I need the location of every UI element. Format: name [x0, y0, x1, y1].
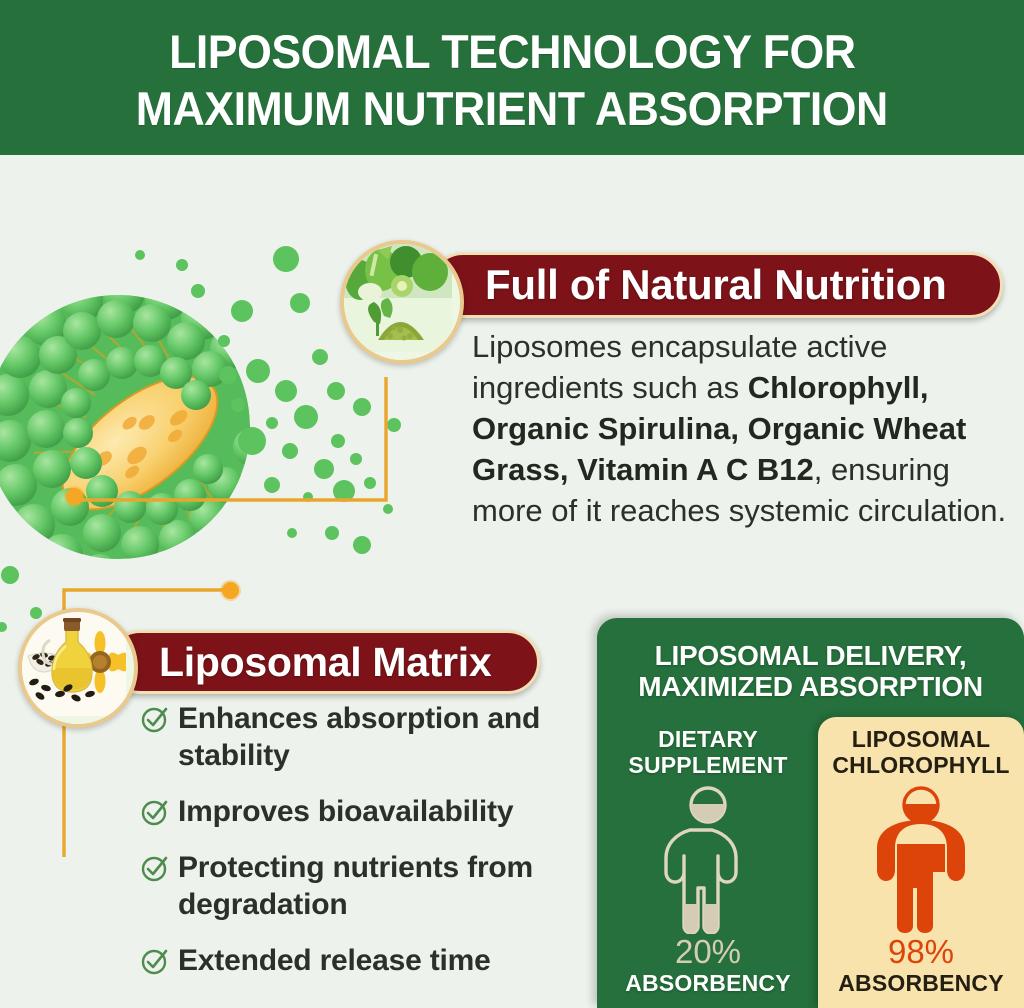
- comparison-title: LIPOSOMAL DELIVERY, MAXIMIZED ABSORPTION: [597, 640, 1024, 702]
- percent-value: 20%: [675, 934, 741, 970]
- check-circle-icon: [140, 704, 170, 734]
- figure-box: [873, 782, 969, 934]
- list-item: Protecting nutrients from degradation: [140, 849, 590, 923]
- list-item: Enhances absorption and stability: [140, 700, 590, 774]
- column-title: LIPOSOMAL CHLOROPHYLL: [832, 726, 1009, 778]
- comparison-column-liposomal-chlorophyll: LIPOSOMAL CHLOROPHYLL 98% ABSORBENCY: [818, 717, 1024, 1008]
- column-title-line1: DIETARY: [628, 726, 787, 752]
- person-outline-icon: [660, 784, 756, 934]
- check-circle-icon: [140, 853, 170, 883]
- person-solid-icon: [873, 784, 969, 934]
- check-circle-icon: [140, 946, 170, 976]
- list-item: Improves bioavailability: [140, 793, 590, 830]
- absorbency-label: ABSORBENCY: [838, 970, 1004, 997]
- matrix-title-pill: Liposomal Matrix: [108, 630, 540, 694]
- connector-anchor-dot-matrix: [222, 582, 239, 599]
- comparison-title-line2: MAXIMIZED ABSORPTION: [597, 671, 1024, 702]
- header-title-line1: LIPOSOMAL TECHNOLOGY FOR: [169, 23, 856, 80]
- list-item-label: Enhances absorption and stability: [178, 700, 590, 774]
- header-title-line2: MAXIMUM NUTRIENT ABSORPTION: [136, 80, 888, 137]
- list-item-label: Protecting nutrients from degradation: [178, 849, 590, 923]
- column-title-line1: LIPOSOMAL: [832, 726, 1009, 752]
- header-banner: LIPOSOMAL TECHNOLOGY FOR MAXIMUM NUTRIEN…: [0, 0, 1024, 155]
- nutrition-body-text: Liposomes encapsulate active ingredients…: [472, 326, 1012, 531]
- comparison-title-line1: LIPOSOMAL DELIVERY,: [597, 640, 1024, 671]
- comparison-column-dietary-supplement: DIETARY SUPPLEMENT: [605, 717, 811, 1008]
- connector-line-nutrition: [68, 495, 398, 505]
- nutrition-title-text: Full of Natural Nutrition: [485, 261, 946, 309]
- column-title-line2: CHLOROPHYLL: [832, 752, 1009, 778]
- matrix-title-text: Liposomal Matrix: [159, 639, 491, 686]
- list-item-label: Improves bioavailability: [178, 793, 513, 830]
- nutrition-title-pill: Full of Natural Nutrition: [430, 252, 1003, 318]
- matrix-benefits-list: Enhances absorption and stability Improv…: [140, 700, 590, 998]
- percent-value: 98%: [888, 934, 954, 970]
- absorbency-label: ABSORBENCY: [625, 970, 791, 997]
- absorption-comparison-panel: LIPOSOMAL DELIVERY, MAXIMIZED ABSORPTION…: [597, 618, 1024, 1008]
- connector-line-matrix: [60, 585, 240, 595]
- nutrition-photo-badge: [340, 240, 464, 364]
- connector-anchor-dot-nutrition: [66, 488, 83, 505]
- list-item: Extended release time: [140, 942, 590, 979]
- column-title-line2: SUPPLEMENT: [628, 752, 787, 778]
- check-circle-icon: [140, 797, 170, 827]
- oil-photo-badge: [18, 608, 138, 728]
- column-title: DIETARY SUPPLEMENT: [628, 726, 787, 778]
- figure-box: [660, 782, 756, 934]
- list-item-label: Extended release time: [178, 942, 491, 979]
